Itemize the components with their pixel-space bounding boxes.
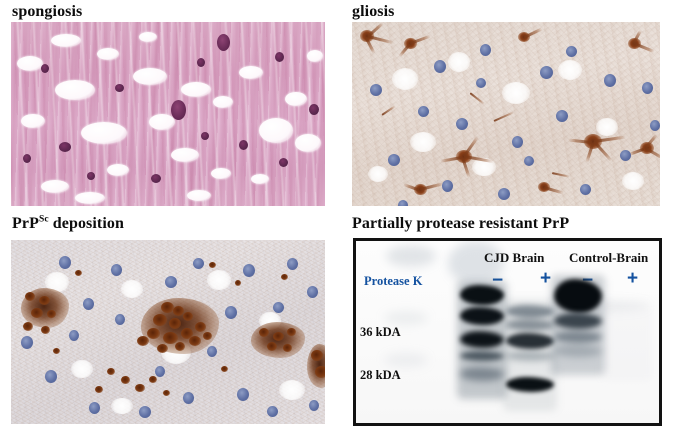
panel-title-prpsc-deposition: PrPSc deposition: [12, 216, 124, 232]
deposition-text: deposition: [49, 215, 124, 232]
prp-text: PrP: [12, 215, 39, 232]
prp-superscript-sc: Sc: [39, 215, 49, 225]
micrograph-spongiosis: [11, 22, 325, 206]
blot-mw-marker-28kda: 28 kDA: [360, 368, 401, 383]
blot-lane-cjd-untreated: [460, 241, 504, 423]
blot-mw-marker-36kda: 36 kDA: [360, 325, 401, 340]
panel-title-western-blot: Partially protease resistant PrP: [352, 216, 569, 232]
blot-lane-control-untreated: [554, 241, 602, 423]
panel-title-spongiosis: spongiosis: [12, 4, 82, 20]
blot-lane-control-protease-treated: [604, 241, 650, 423]
blot-row-label-protease-k: Protease K: [364, 275, 422, 288]
blot-lane-cjd-protease-treated: [506, 241, 554, 423]
micrograph-prpsc-deposition: [11, 240, 325, 424]
micrograph-gliosis: [352, 22, 660, 206]
figure-root: spongiosis gliosis PrPSc deposition Part…: [0, 0, 678, 438]
blot-film-background: CJD Brain Control-Brain Protease K − + −…: [356, 241, 659, 423]
panel-title-gliosis: gliosis: [352, 4, 395, 20]
western-blot-panel: CJD Brain Control-Brain Protease K − + −…: [353, 238, 662, 426]
